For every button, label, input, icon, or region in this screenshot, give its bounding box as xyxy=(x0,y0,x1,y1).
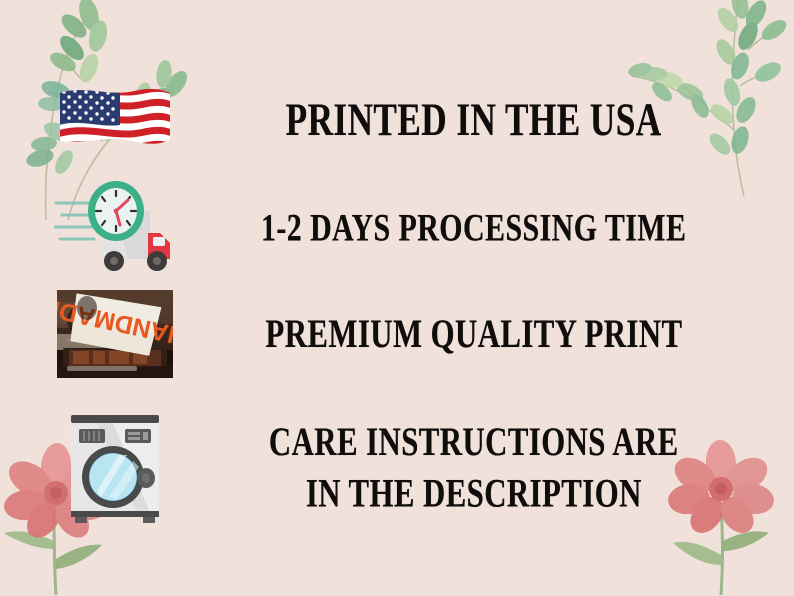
feature-text-care-instructions: CARE INSTRUCTIONS ARE IN THE DESCRIPTION xyxy=(269,417,679,519)
washing-machine-icon xyxy=(67,409,163,527)
usa-flag-icon xyxy=(56,83,174,157)
feature-row-printed-in-usa: PRINTED IN THE USA xyxy=(40,74,754,166)
fast-delivery-truck-clock-icon xyxy=(54,181,176,277)
icon-cell-usa-flag xyxy=(40,83,190,157)
text-cell-printed-in-usa: PRINTED IN THE USA xyxy=(190,98,754,141)
feature-row-premium-quality: HANDMADE PREMIUM QUALITY PRINT xyxy=(40,286,754,382)
clock-icon xyxy=(88,181,144,241)
text-cell-premium-quality: PREMIUM QUALITY PRINT xyxy=(190,315,754,353)
listing-info-graphic: PRINTED IN THE USA xyxy=(0,0,794,596)
feature-row-care-instructions: CARE INSTRUCTIONS ARE IN THE DESCRIPTION xyxy=(40,398,754,538)
feature-text-printed-in-usa: PRINTED IN THE USA xyxy=(286,95,662,145)
icon-cell-screen-print-photo: HANDMADE xyxy=(40,290,190,378)
feature-text-premium-quality: PREMIUM QUALITY PRINT xyxy=(265,312,682,356)
text-cell-processing-time: 1-2 DAYS PROCESSING TIME xyxy=(190,211,754,248)
icon-cell-washing-machine xyxy=(40,409,190,527)
screen-print-photo-icon: HANDMADE xyxy=(57,290,173,378)
feature-row-processing-time: 1-2 DAYS PROCESSING TIME xyxy=(40,180,754,278)
icon-cell-fast-delivery xyxy=(40,181,190,277)
text-cell-care-instructions: CARE INSTRUCTIONS ARE IN THE DESCRIPTION xyxy=(190,424,754,512)
feature-text-processing-time: 1-2 DAYS PROCESSING TIME xyxy=(261,208,686,251)
